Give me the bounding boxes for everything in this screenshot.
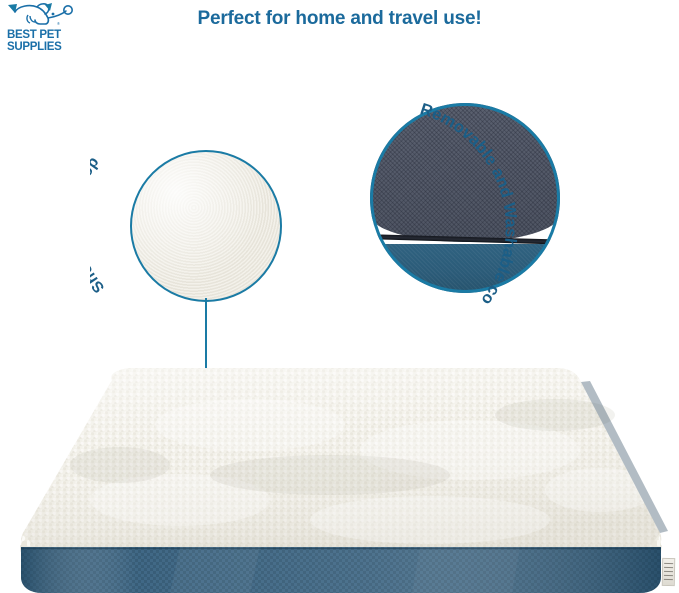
brand-name-line2: SUPPLIES [7, 42, 79, 54]
brand-name: BEST PET SUPPLIES [7, 30, 79, 53]
product-dog-bed [0, 355, 679, 593]
bed-base-shading [21, 547, 661, 593]
callout-ring-removable-cover [370, 103, 560, 293]
infographic-canvas: ® BEST PET SUPPLIES Perfect for home and… [0, 0, 679, 593]
bed-base-sheen-2 [412, 547, 520, 593]
bed-base-sheen [170, 547, 260, 593]
brand-name-line1: BEST PET [7, 30, 79, 42]
callout-label-sherpa-text: Sherpa Fleece top [90, 154, 108, 296]
callout-ring-sherpa-fleece [130, 150, 282, 302]
product-tag [662, 558, 675, 586]
page-headline: Perfect for home and travel use! [0, 8, 679, 30]
